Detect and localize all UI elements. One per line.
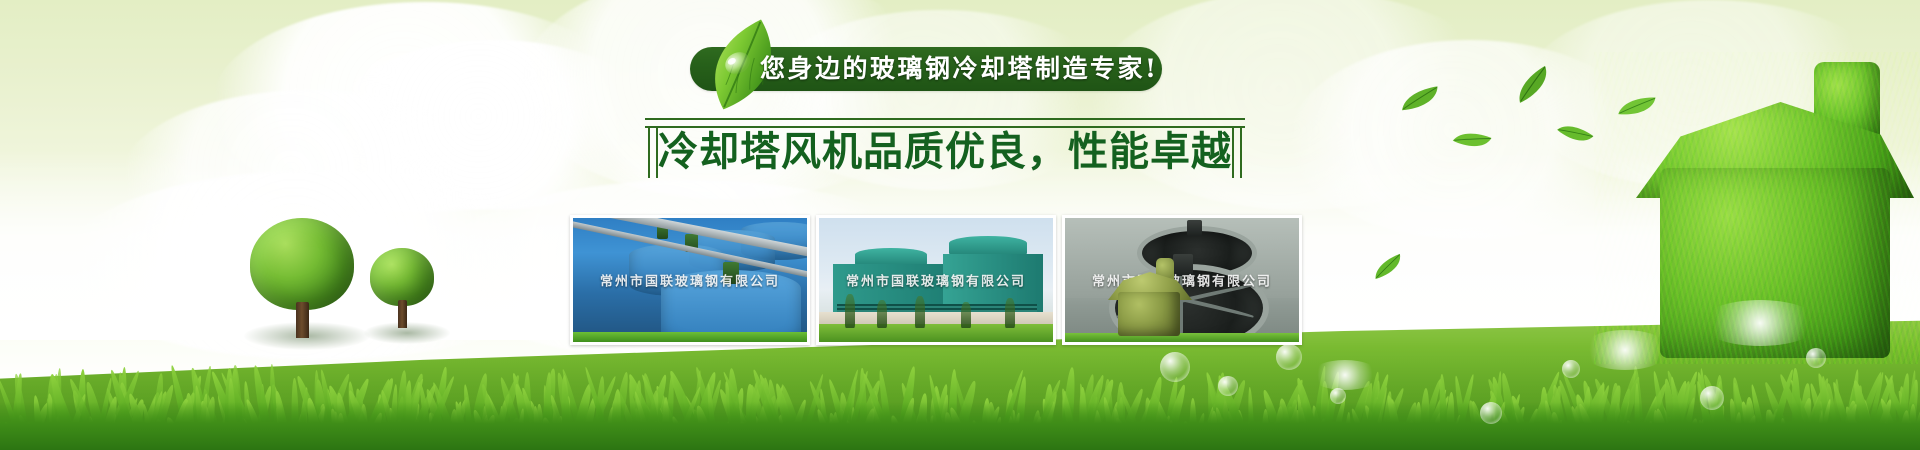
product-photo[interactable]: 常州市国联玻璃钢有限公司 <box>570 215 810 345</box>
sparkle <box>1700 300 1820 346</box>
small-tree <box>1005 298 1015 328</box>
tagline-text: 您身边的玻璃钢冷却塔制造专家! <box>760 48 1158 90</box>
grass-foreground <box>0 402 1920 450</box>
tree-icon <box>370 248 440 344</box>
small-tree <box>845 294 855 328</box>
grass-strip <box>573 332 807 342</box>
bubble-icon <box>1276 344 1302 370</box>
photo-teal-towers: 常州市国联玻璃钢有限公司 <box>819 218 1053 342</box>
bubble-icon <box>1700 386 1724 410</box>
bubble-icon <box>1562 360 1580 378</box>
small-tree <box>877 300 887 328</box>
sparkle <box>1310 360 1380 390</box>
tree-crown <box>250 218 354 310</box>
tree-icon <box>250 218 360 348</box>
house-body <box>1118 292 1180 336</box>
tree-trunk <box>398 300 407 328</box>
small-tree <box>915 296 925 328</box>
bubble-icon <box>1218 376 1238 396</box>
product-photo[interactable]: 常州市国联玻璃钢有限公司 <box>816 215 1056 345</box>
tree-trunk <box>296 302 309 338</box>
bubble-icon <box>1160 352 1190 382</box>
bubble-icon <box>1806 348 1826 368</box>
motor <box>1187 220 1202 236</box>
photo-blue-frp-basins: 常州市国联玻璃钢有限公司 <box>573 218 807 342</box>
promo-banner: 您身边的玻璃钢冷却塔制造专家! 冷却塔风机品质优良，性能卓越 常州市国联玻璃钢有… <box>0 0 1920 450</box>
tree-crown <box>370 248 434 306</box>
bubble-icon <box>1480 402 1502 424</box>
bubble-icon <box>1330 388 1346 404</box>
motor <box>723 262 739 284</box>
headline-text: 冷却塔风机品质优良，性能卓越 <box>645 126 1245 178</box>
small-tree <box>961 302 971 328</box>
sparkle <box>1580 330 1670 370</box>
moss-house-icon <box>1108 258 1194 336</box>
tree-shadow <box>364 322 450 344</box>
headline-box: 冷却塔风机品质优良，性能卓越 <box>645 118 1245 180</box>
